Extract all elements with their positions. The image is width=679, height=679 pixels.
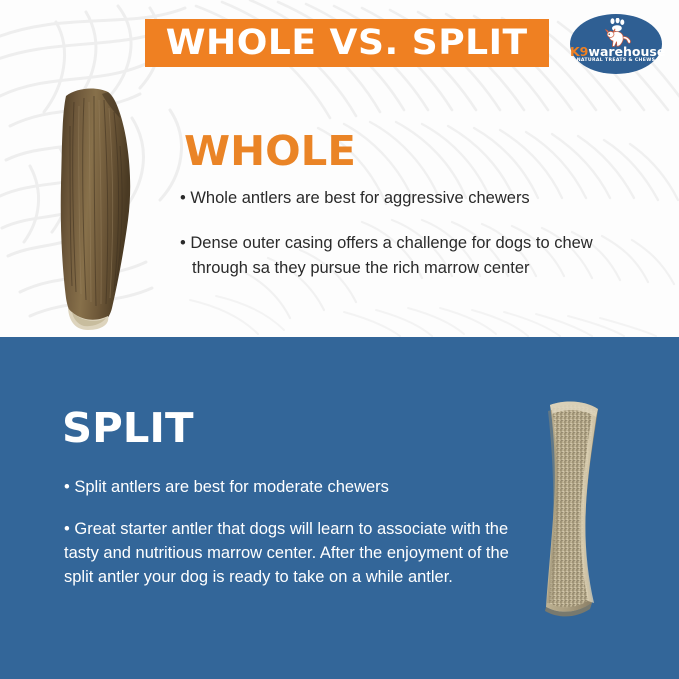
whole-heading: WHOLE — [184, 131, 356, 172]
list-item: • Split antlers are best for moderate ch… — [64, 475, 524, 499]
whole-antler-photo — [52, 86, 156, 334]
brand-logo[interactable]: K9warehouse NATURAL TREATS & CHEWS — [570, 14, 662, 74]
split-bullet-list: • Split antlers are best for moderate ch… — [64, 475, 524, 607]
split-heading: SPLIT — [62, 408, 194, 449]
logo-brand-warehouse: warehouse — [588, 44, 665, 59]
title-banner: WHOLE VS. SPLIT — [145, 19, 549, 67]
logo-tagline: NATURAL TREATS & CHEWS — [570, 59, 662, 64]
split-antler-photo — [528, 397, 612, 619]
list-item: • Whole antlers are best for aggressive … — [180, 186, 628, 211]
infographic-whole-vs-split: WHOLE VS. SPLIT — [0, 0, 679, 679]
banner-title: WHOLE VS. SPLIT — [166, 26, 528, 61]
list-item: • Great starter antler that dogs will le… — [64, 517, 524, 589]
whole-section-panel: WHOLE VS. SPLIT — [0, 0, 679, 337]
list-item: • Dense outer casing offers a challenge … — [180, 231, 628, 281]
logo-brand-name: K9warehouse — [570, 46, 662, 59]
logo-brand-k9: K9 — [570, 44, 588, 59]
whole-bullet-list: • Whole antlers are best for aggressive … — [180, 186, 628, 301]
